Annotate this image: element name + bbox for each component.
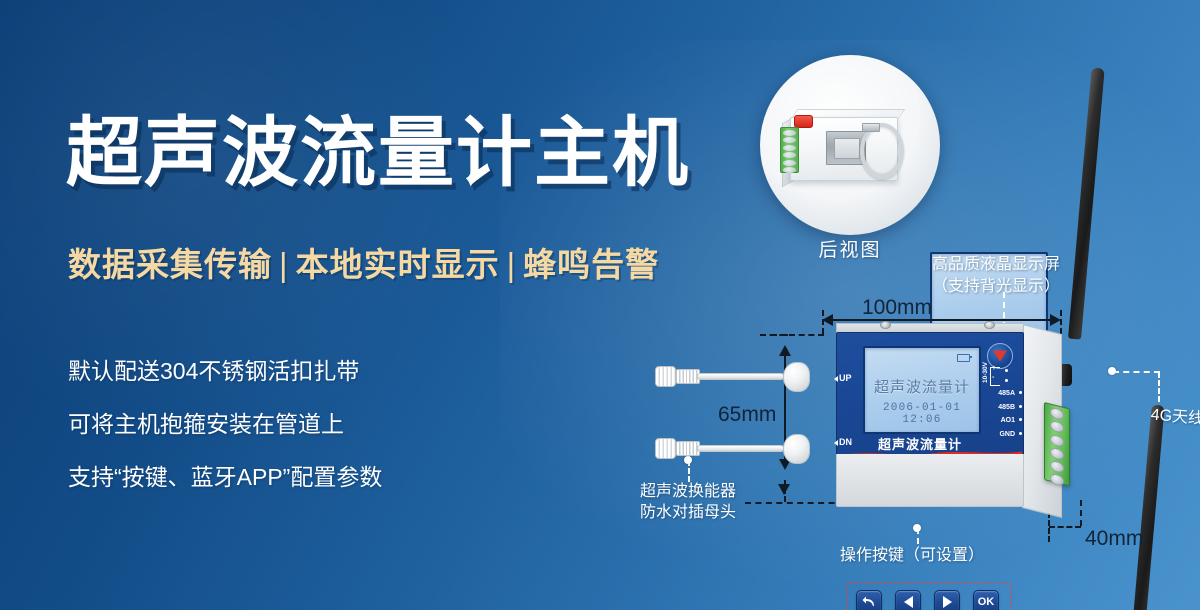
- product-banner: 超声波流量计主机 数据采集传输|本地实时显示|蜂鸣告警 默认配送304不锈钢活扣…: [0, 0, 1200, 610]
- transducer-wire-up: [697, 373, 784, 380]
- antenna-rod: [1068, 67, 1105, 339]
- dimension-height-label: 65mm: [718, 403, 776, 427]
- callout-transducer-line2: 防水对插母头: [640, 504, 736, 521]
- back-arrow-icon: [862, 596, 876, 608]
- dimension-depth-label: 40mm: [1085, 527, 1143, 551]
- callout-lcd-line1: 高品质液晶显示屏: [932, 256, 1060, 273]
- callout-antenna: 4G天线: [1128, 404, 1165, 610]
- terminal-label: AO1: [979, 417, 1025, 424]
- right-triangle-icon: [943, 596, 952, 608]
- lcd-title-text: 超声波流量计: [865, 376, 979, 397]
- rear-view-photo: [760, 55, 940, 235]
- transducer-wire-dn: [697, 445, 784, 452]
- subtitle-part-3: 蜂鸣告警: [523, 246, 659, 283]
- lcd-datetime-text: 2006-01-01 12:06: [869, 402, 975, 426]
- voltage-range-label: 10-30V: [982, 362, 989, 383]
- screw-icon: [984, 321, 995, 329]
- rear-view-label: 后视图: [760, 235, 940, 262]
- battery-icon: [957, 354, 970, 362]
- feature-item: 支持“按键、蓝牙APP”配置参数: [68, 466, 382, 489]
- callout-transducer-line1: 超声波换能器: [640, 483, 736, 500]
- terminal-labels: 10-30V + - 485A 485B AO1 GND: [979, 365, 1025, 444]
- terminal-minus-label: -: [992, 374, 994, 381]
- ok-button[interactable]: OK: [973, 590, 999, 610]
- feature-list: 默认配送304不锈钢活扣扎带 可将主机抱箍安装在管道上 支持“按键、蓝牙APP”…: [68, 360, 382, 519]
- terminal-label: 485B: [979, 404, 1025, 411]
- device-lower-panel: OK: [836, 454, 1024, 507]
- green-terminal-block: [1044, 402, 1070, 486]
- rear-terminal-block: [780, 127, 799, 173]
- ok-button-label: OK: [974, 591, 998, 610]
- subtitle-part-1: 数据采集传输: [68, 246, 272, 283]
- callout-transducer: 超声波换能器 防水对插母头: [640, 482, 736, 524]
- screw-icon: [880, 321, 891, 329]
- device-front-panel: 超声波流量计 2006-01-01 12:06 UP DN 10-30V + -…: [836, 332, 1024, 456]
- feature-item: 可将主机抱箍安装在管道上: [68, 413, 382, 436]
- feature-item: 默认配送304不锈钢活扣扎带: [68, 360, 382, 383]
- back-button[interactable]: [856, 590, 882, 610]
- rear-view-inset: 后视图: [760, 55, 980, 235]
- port-marker-up: UP: [839, 373, 852, 383]
- port-marker-dn: DN: [839, 437, 852, 447]
- subtitle-separator-1: |: [272, 246, 296, 283]
- subtitle-part-2: 本地实时显示: [296, 246, 500, 283]
- stainless-steel-clamp: [860, 123, 904, 179]
- right-button[interactable]: [934, 590, 960, 610]
- banner-title: 超声波流量计主机: [66, 116, 690, 192]
- keypad-group: OK: [846, 582, 1012, 610]
- transducer-cap-dn: [655, 438, 676, 459]
- terminal-label: 485A: [979, 390, 1025, 397]
- left-button[interactable]: [895, 590, 921, 610]
- transducer-gland-up: [783, 362, 810, 392]
- voltage-terminal-group: 10-30V + -: [979, 365, 1025, 387]
- callout-lcd-line2: （支持背光显示）: [932, 276, 1046, 298]
- subtitle-separator-2: |: [500, 246, 524, 283]
- left-triangle-icon: [904, 596, 913, 608]
- flow-meter-device: 超声波流量计 2006-01-01 12:06 UP DN 10-30V + -…: [836, 332, 1060, 532]
- transducer-gland-dn: [783, 434, 810, 464]
- callout-keys: 操作按键（可设置）: [840, 545, 984, 567]
- lcd-screen: 超声波流量计 2006-01-01 12:06: [863, 346, 981, 434]
- terminal-plus-label: +: [992, 365, 996, 372]
- dimension-width-label: 100mm: [862, 296, 932, 320]
- banner-subtitle: 数据采集传输|本地实时显示|蜂鸣告警: [68, 248, 659, 281]
- terminal-label: GND: [979, 431, 1025, 438]
- transducer-cap-up: [655, 366, 676, 387]
